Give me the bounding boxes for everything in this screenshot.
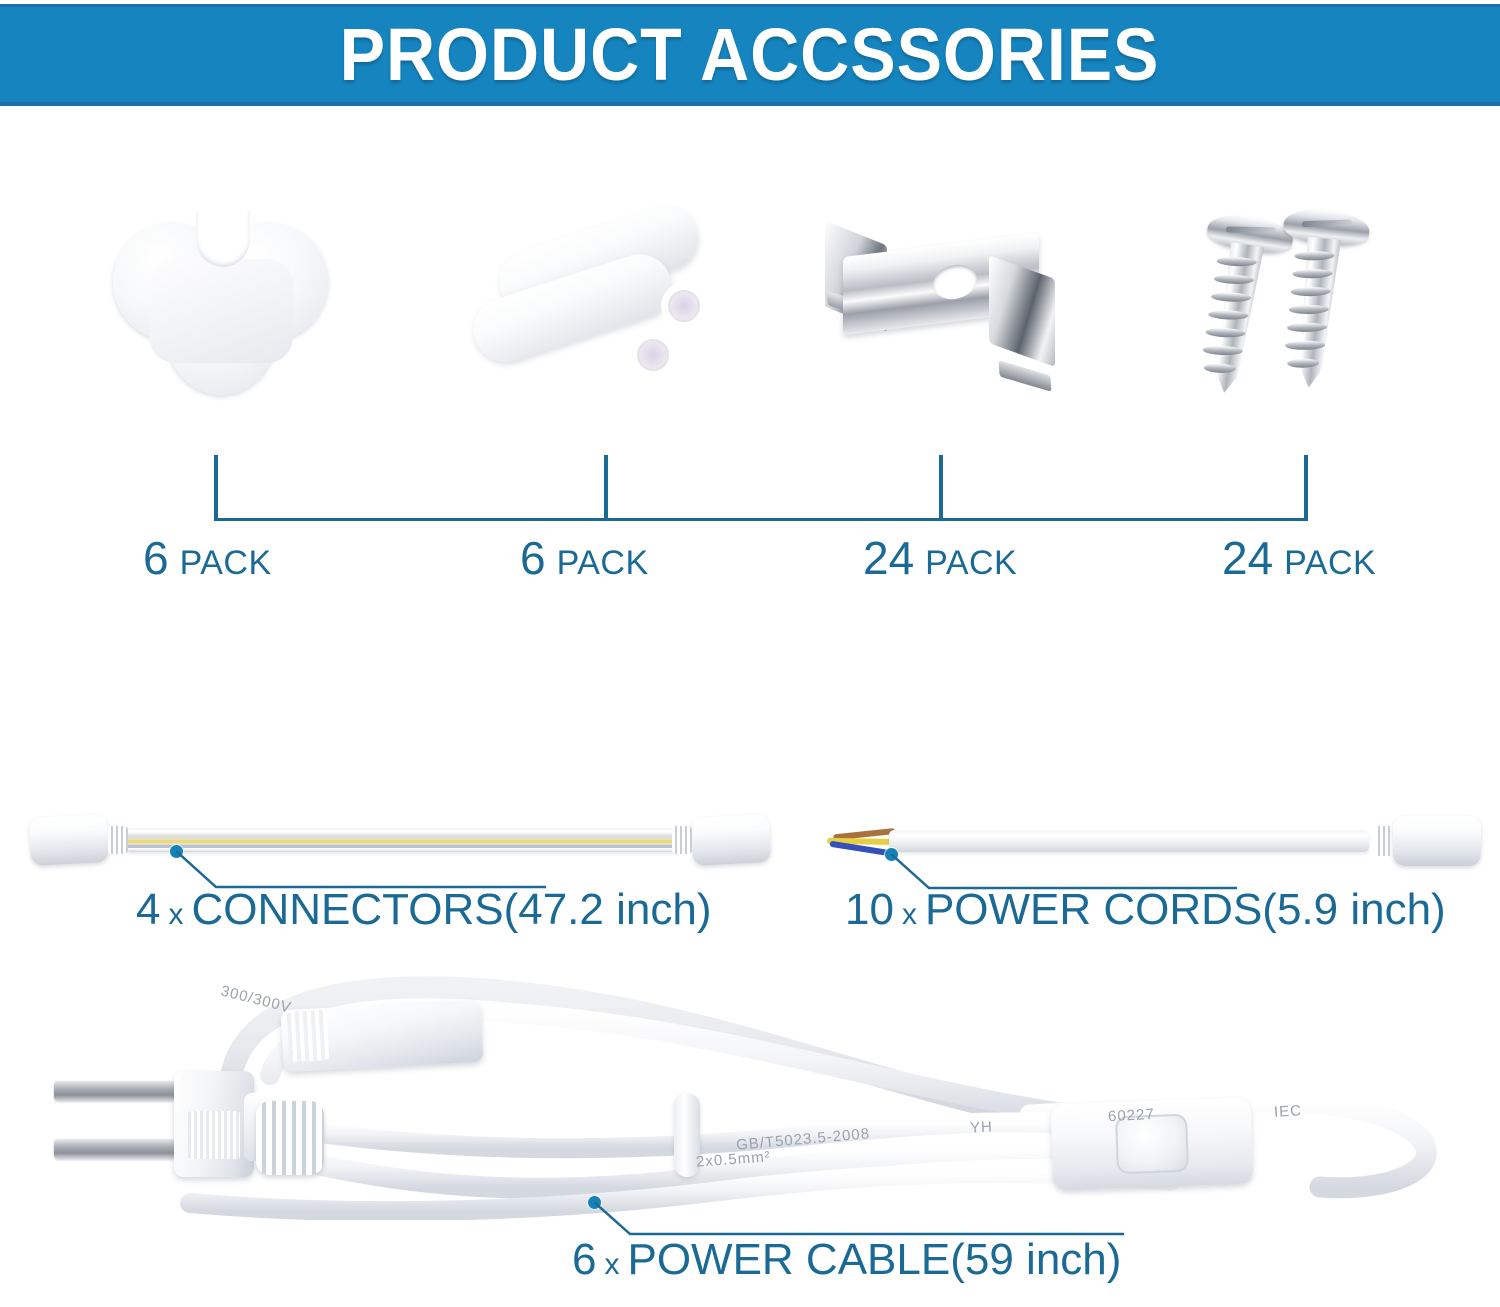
pack-label-tri-lobe-clip: 6 PACK xyxy=(143,535,272,591)
flat-head-screw-icon xyxy=(1180,210,1410,400)
pack-label-tube-connector: 6 PACK xyxy=(520,535,649,591)
connector-endcap-left xyxy=(29,814,109,866)
plug-prong-lower xyxy=(54,1139,176,1159)
bracket-tick-3 xyxy=(939,455,943,521)
connector-endcap-right xyxy=(691,814,771,866)
plug-grip-ribs xyxy=(188,1111,240,1159)
connectors-quantity: 4 xyxy=(136,888,160,932)
metal-bracket-clip-icon xyxy=(825,223,1055,388)
accessory-item-screws xyxy=(1140,140,1450,470)
bracket-tick-4 xyxy=(1304,455,1308,521)
screw-thread xyxy=(1214,274,1254,284)
cable-print-60227: 60227 xyxy=(1108,1106,1156,1125)
tube-opening-upper xyxy=(661,283,707,329)
quantity-bracket xyxy=(0,455,1500,525)
pack-quantity: 24 xyxy=(863,535,914,581)
connector-collar-left xyxy=(108,826,128,854)
cable-print-iec: IEC xyxy=(1274,1102,1303,1120)
screw-thread xyxy=(1211,292,1251,302)
pack-unit: PACK xyxy=(1284,546,1376,580)
accessory-item-metal-bracket xyxy=(790,140,1090,470)
pack-quantity: 24 xyxy=(1222,535,1273,581)
power-cords-multiplier: x xyxy=(902,900,917,930)
power-cable-with-switch-icon: GB/T5023.5-2008 YH 60227 IEC 300/300V 2x… xyxy=(20,955,1480,1220)
trilobe-core xyxy=(149,259,293,363)
power-cords-description: POWER CORDS(5.9 inch) xyxy=(925,888,1446,932)
power-cords-label: 10 x POWER CORDS(5.9 inch) xyxy=(845,888,1446,932)
power-cord-endcap xyxy=(1393,816,1481,866)
power-cable-quantity: 6 xyxy=(572,1238,596,1282)
power-cable-description: POWER CABLE(59 inch) xyxy=(627,1238,1121,1282)
bracket-horizontal-line xyxy=(215,518,1306,521)
connector-cable-yellow-strand xyxy=(126,840,686,843)
connector-collar-right xyxy=(672,826,692,854)
trilobe-clip-icon xyxy=(113,215,328,395)
tube-opening-lower xyxy=(630,332,676,378)
bracket-tick-2 xyxy=(604,455,608,521)
us-two-prong-plug xyxy=(48,1063,248,1183)
connectors-multiplier: x xyxy=(168,900,183,930)
bracket-right-fold xyxy=(989,254,1055,366)
accessory-items-row xyxy=(0,140,1500,470)
power-cords-quantity: 10 xyxy=(845,888,894,932)
accessory-item-tube-connector xyxy=(440,140,750,470)
accessory-item-tri-lobe-clip xyxy=(70,140,370,470)
screw-thread xyxy=(1205,328,1245,338)
plug-prong-upper xyxy=(54,1081,176,1101)
connectors-label: 4 x CONNECTORS(47.2 inch) xyxy=(136,888,711,932)
header-banner: PRODUCT ACCSSORIES xyxy=(0,4,1500,106)
pack-unit: PACK xyxy=(180,546,272,580)
pack-label-metal-bracket: 24 PACK xyxy=(863,535,1017,591)
page-title: PRODUCT ACCSSORIES xyxy=(340,18,1160,92)
power-cable-iec-ribs xyxy=(287,1010,330,1062)
screw-thread xyxy=(1203,345,1243,355)
power-cable-multiplier: x xyxy=(604,1250,619,1280)
pack-quantity: 6 xyxy=(520,535,546,581)
screw-thread xyxy=(1204,363,1236,373)
screw-right xyxy=(1279,207,1359,391)
pack-quantity: 6 xyxy=(143,535,169,581)
screw-left xyxy=(1194,212,1283,398)
pack-label-screws: 24 PACK xyxy=(1222,535,1376,591)
screw-thread xyxy=(1217,256,1257,266)
power-cable-label: 6 x POWER CABLE(59 inch) xyxy=(572,1238,1121,1282)
screw-thread xyxy=(1208,310,1248,320)
double-tube-connector-icon xyxy=(470,210,720,400)
bracket-tick-1 xyxy=(214,455,218,521)
connectors-description: CONNECTORS(47.2 inch) xyxy=(191,888,711,932)
trilobe-notch xyxy=(196,211,250,267)
bracket-right-lip xyxy=(999,360,1052,392)
cable-print-yh: YH xyxy=(970,1118,994,1136)
pack-unit: PACK xyxy=(925,546,1017,580)
power-cable-strain-relief xyxy=(256,1101,324,1175)
pack-unit: PACK xyxy=(557,546,649,580)
